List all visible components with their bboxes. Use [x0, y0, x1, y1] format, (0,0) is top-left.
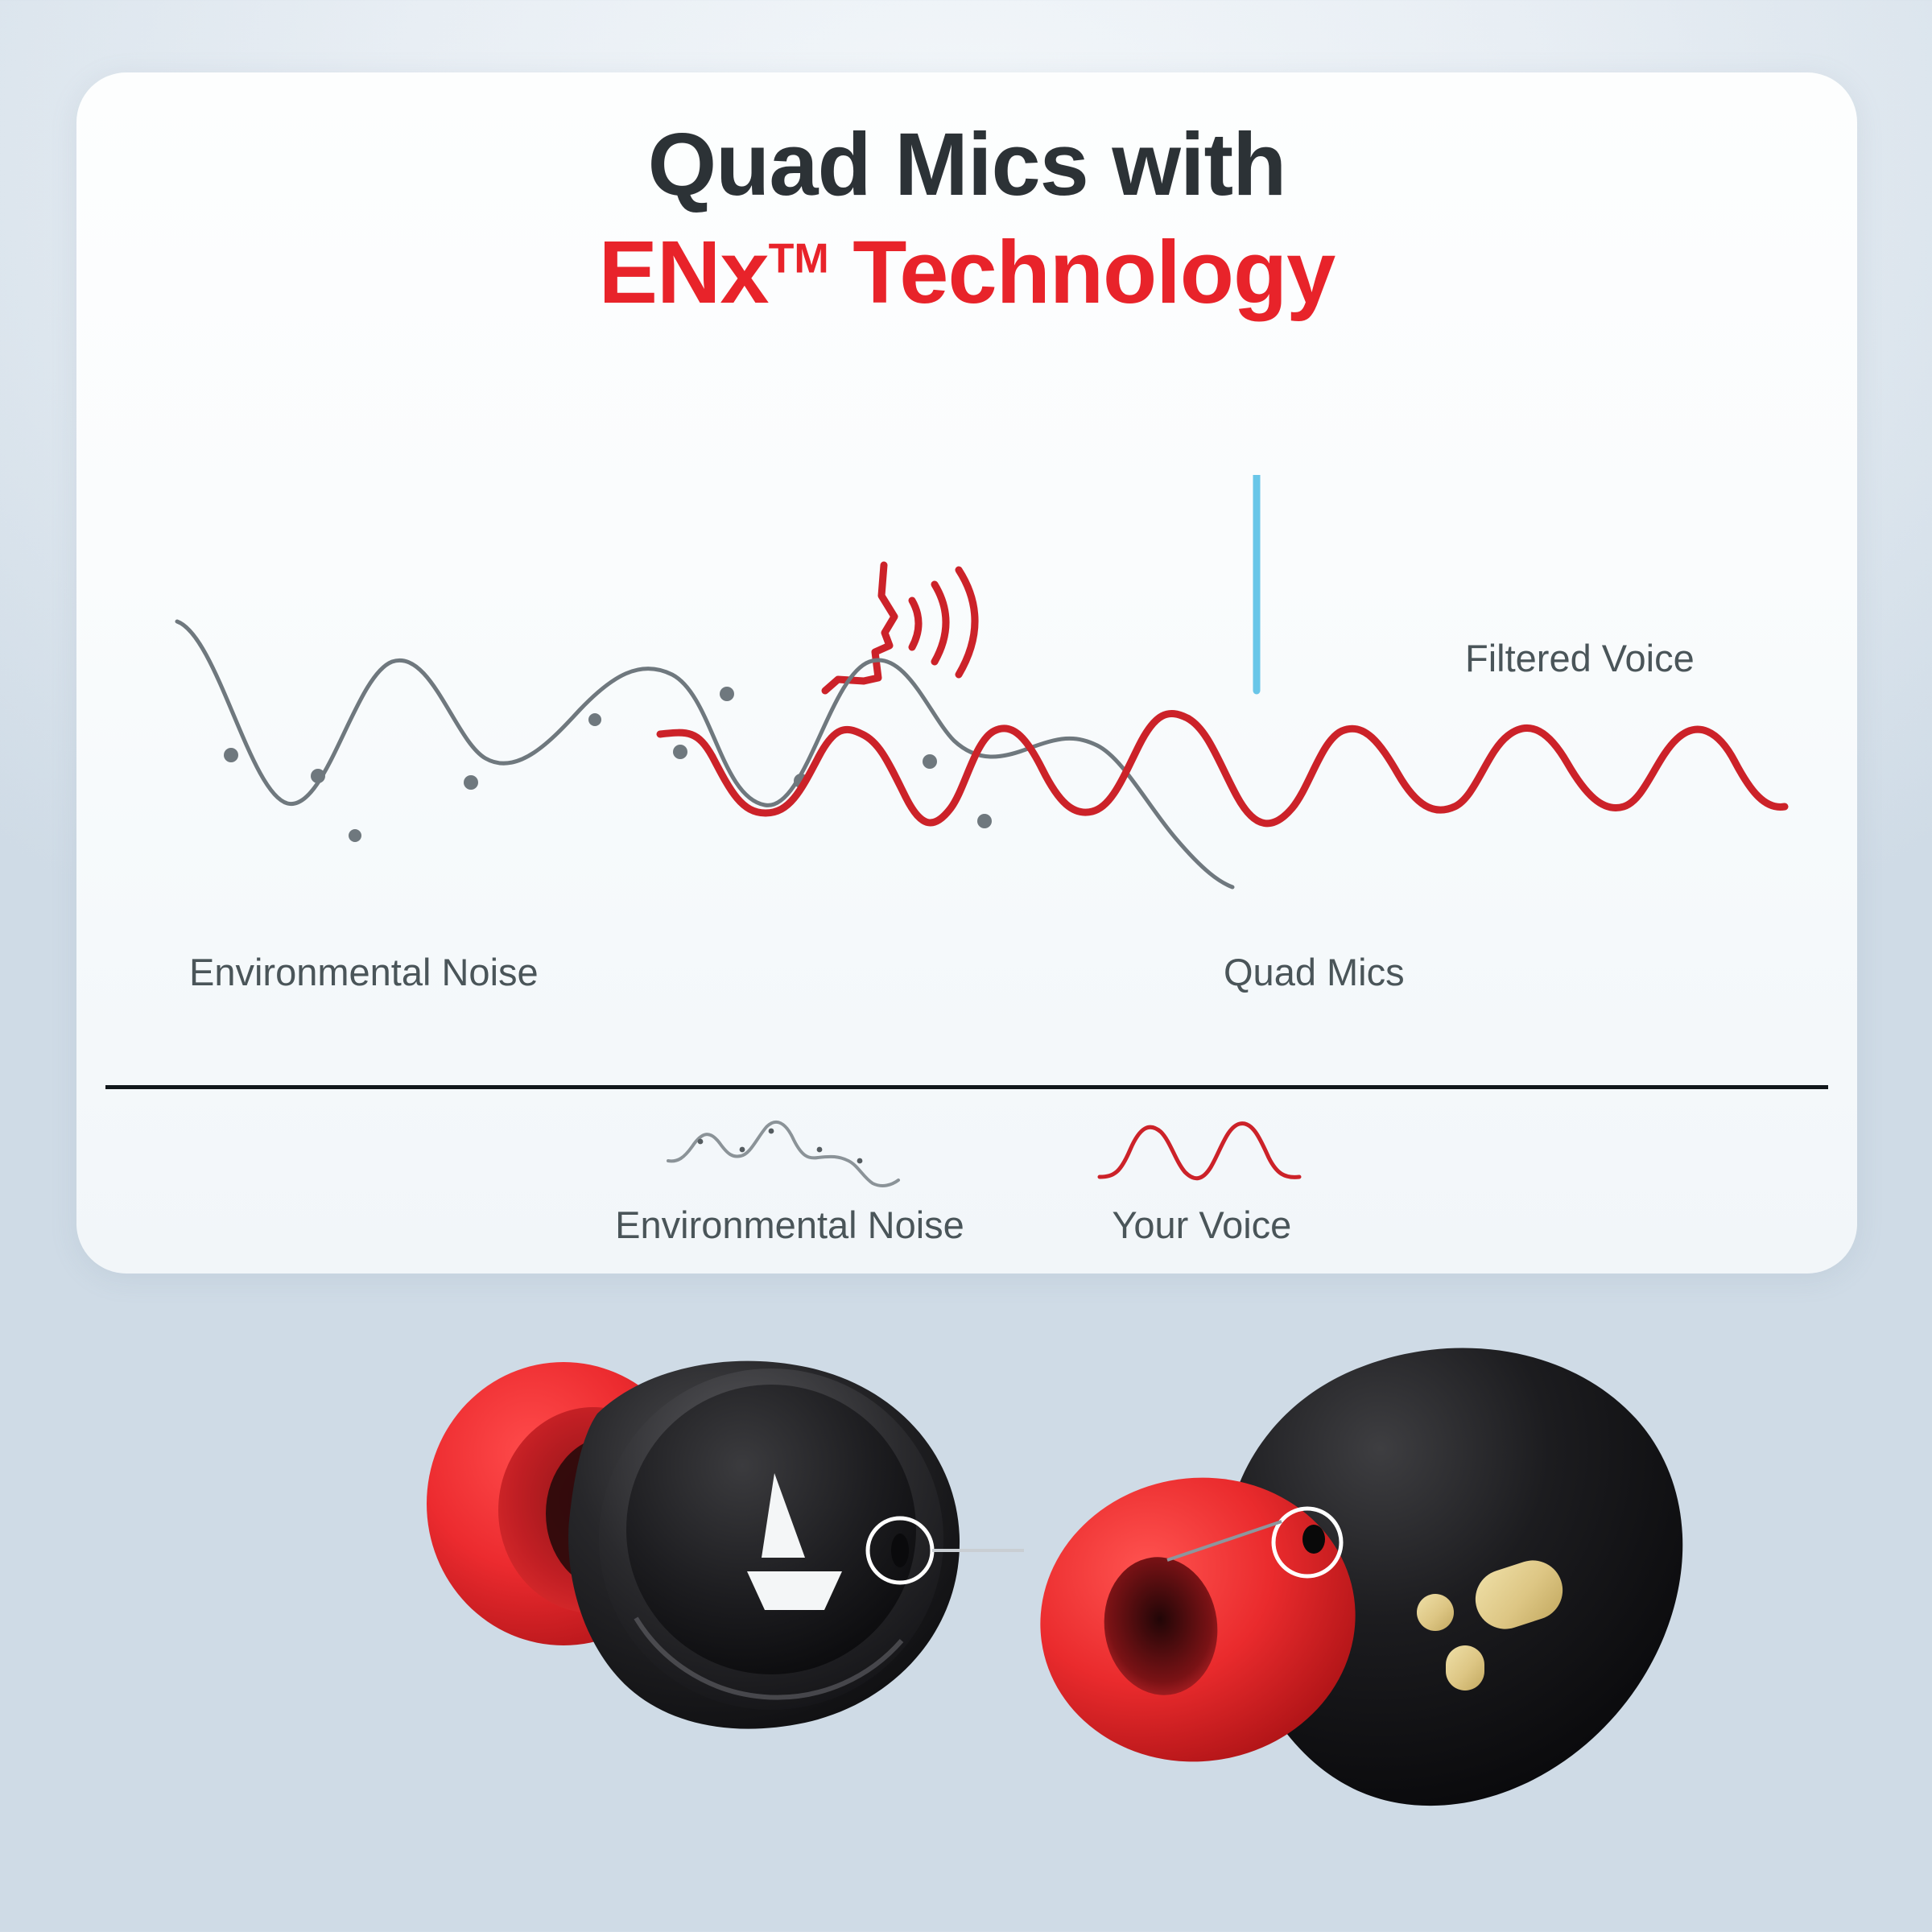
noise-dots — [224, 687, 992, 842]
trademark-symbol: TM — [769, 236, 829, 283]
legend-label-voice: Your Voice — [1112, 1203, 1291, 1247]
label-filtered-voice: Filtered Voice — [1465, 636, 1695, 680]
right-earbud — [1022, 1348, 1682, 1806]
voice-wave — [660, 713, 1785, 823]
product-photo: MICS — [0, 1288, 1932, 1932]
title-line-1: Quad Mics with — [76, 111, 1857, 219]
legend: Environmental Noise Your Voice — [76, 1111, 1857, 1264]
title-enx: ENx — [599, 223, 769, 322]
right-earbud-mic-port — [1302, 1525, 1325, 1554]
feature-card: Quad Mics with ENxTM Technology — [76, 72, 1857, 1274]
environmental-noise-wave — [177, 621, 1232, 887]
legend-voice-wave-icon — [1085, 1111, 1319, 1199]
left-earbud — [427, 1361, 960, 1729]
page-title: Quad Mics with ENxTM Technology — [76, 111, 1857, 327]
page-root: Quad Mics with ENxTM Technology — [0, 0, 1932, 1932]
legend-item-noise: Environmental Noise — [615, 1111, 964, 1247]
waveform-diagram — [76, 475, 1857, 1087]
title-line-2: ENxTM Technology — [76, 219, 1857, 327]
legend-item-voice: Your Voice — [1085, 1111, 1319, 1247]
label-quad-mics: Quad Mics — [1224, 950, 1405, 994]
legend-label-noise: Environmental Noise — [615, 1203, 964, 1247]
left-earbud-mic-port — [891, 1534, 909, 1567]
legend-noise-wave-icon — [657, 1111, 923, 1199]
title-technology: Technology — [829, 223, 1335, 322]
horizontal-divider — [105, 1085, 1828, 1089]
label-environmental-noise: Environmental Noise — [189, 950, 539, 994]
